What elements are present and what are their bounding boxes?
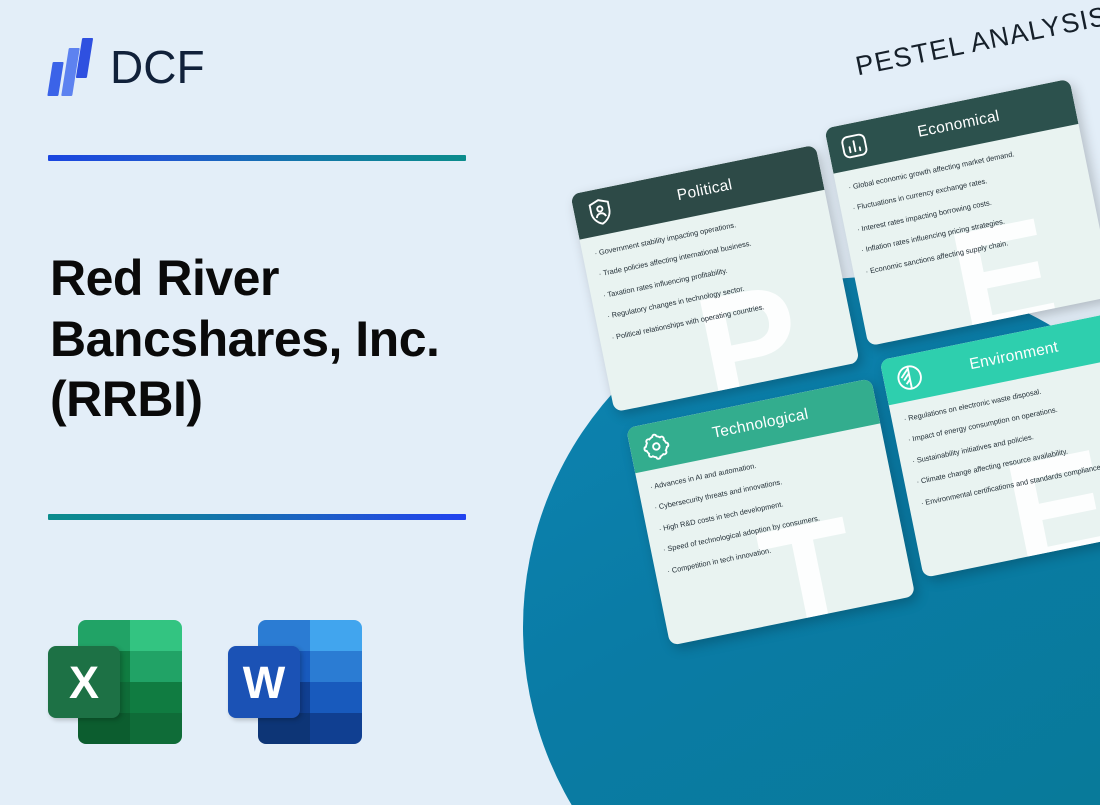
pestel-card-economical[interactable]: Economical E Global economic growth affe… [824, 79, 1100, 346]
divider-top [48, 155, 466, 161]
divider-bottom [48, 514, 466, 520]
download-formats: X W [48, 620, 362, 744]
pestel-card-technological[interactable]: Technological T Advances in AI and autom… [626, 378, 915, 645]
pestel-card-environment[interactable]: Environment E Regulations on electronic … [880, 310, 1100, 577]
excel-file-icon[interactable]: X [48, 620, 182, 744]
dcf-logo[interactable]: DCF [48, 38, 205, 96]
pestel-card-political[interactable]: Political P Government stability impacti… [570, 145, 859, 412]
left-panel: DCF Red River Bancshares, Inc. (RRBI) X [0, 0, 545, 805]
logo-text: DCF [110, 44, 205, 90]
bar-chart-logo-mark-icon [48, 38, 96, 96]
word-file-icon[interactable]: W [228, 620, 362, 744]
page-title: Red River Bancshares, Inc. (RRBI) [50, 248, 520, 430]
pestel-analysis-page: PESTEL ANALYSIS Political P [0, 0, 1100, 805]
pestel-heading: PESTEL ANALYSIS [853, 1, 1100, 83]
excel-letter: X [48, 646, 120, 718]
word-letter: W [228, 646, 300, 718]
pestel-card-grid: Political P Government stability impacti… [570, 91, 1100, 655]
